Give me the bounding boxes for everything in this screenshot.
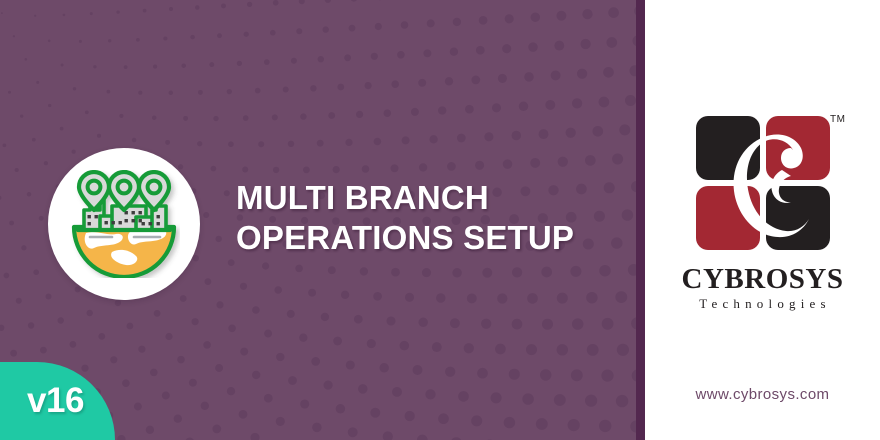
multi-branch-globe-icon	[68, 170, 180, 278]
promo-banner: MULTI BRANCH OPERATIONS SETUP v16	[0, 0, 880, 440]
cybrosys-logo: TM	[692, 112, 834, 254]
hero-title: MULTI BRANCH OPERATIONS SETUP	[236, 178, 626, 258]
website-url: www.cybrosys.com	[645, 386, 880, 403]
left-hero-panel: MULTI BRANCH OPERATIONS SETUP v16	[0, 0, 636, 440]
version-label: v16	[27, 383, 88, 420]
brand-name: CYBROSYS	[645, 264, 880, 294]
hero-title-line-1: MULTI BRANCH	[236, 178, 626, 218]
hero-title-line-2: OPERATIONS SETUP	[236, 218, 626, 258]
right-brand-panel: TM CYBROSYS Technologies www.cybrosys.co…	[645, 0, 880, 440]
cybrosys-logo-mark	[692, 112, 834, 254]
brand-block: TM CYBROSYS Technologies	[645, 112, 880, 312]
brand-tagline: Technologies	[645, 296, 880, 312]
trademark-icon: TM	[830, 114, 845, 125]
panel-divider	[636, 0, 645, 440]
hero-icon-badge	[48, 148, 200, 300]
